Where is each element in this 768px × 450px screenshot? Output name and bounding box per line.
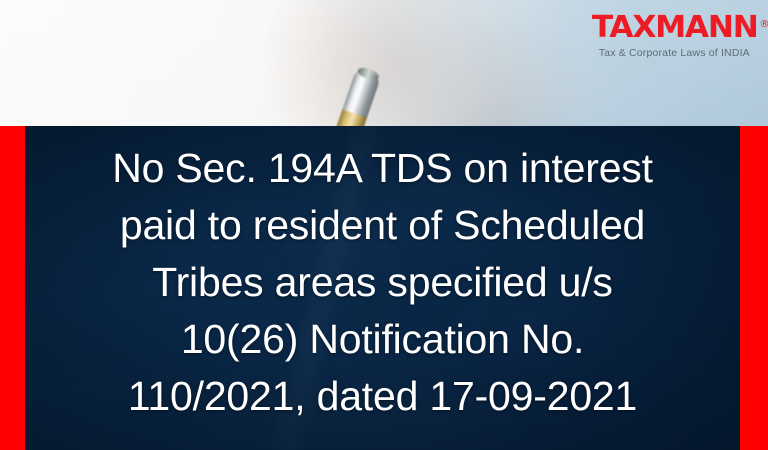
left-red-bar (0, 126, 25, 450)
headline-line: No Sec. 194A TDS on interest (31, 140, 734, 197)
headline-text: No Sec. 194A TDS on interest paid to res… (25, 140, 740, 425)
headline-line: 10(26) Notification No. (31, 311, 734, 368)
headline-banner: No Sec. 194A TDS on interest paid to res… (25, 126, 740, 450)
headline-line: Tribes areas specified u/s (31, 254, 734, 311)
registered-trademark-icon: ® (759, 9, 768, 41)
taxmann-logo: TAXMANN® Tax & Corporate Laws of INDIA (595, 12, 754, 59)
logo-tagline: Tax & Corporate Laws of INDIA (595, 47, 754, 59)
right-red-bar (740, 126, 768, 450)
news-banner-image: TAXMANN® Tax & Corporate Laws of INDIA N… (0, 0, 768, 450)
headline-line: 110/2021, dated 17-09-2021 (31, 368, 734, 425)
headline-line: paid to resident of Scheduled (31, 197, 734, 254)
logo-wordmark-text: TAXMANN (591, 10, 757, 45)
logo-wordmark: TAXMANN® (591, 12, 757, 44)
